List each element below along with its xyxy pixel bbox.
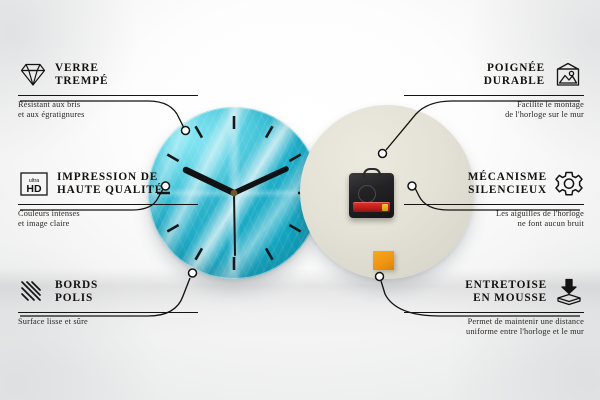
diamond-icon — [18, 62, 48, 88]
feature-title: MÉCANISME SILENCIEUX — [468, 171, 547, 197]
mechanism-dial — [358, 185, 376, 203]
battery — [353, 202, 390, 212]
feature-description: Permet de maintenir une distance uniform… — [404, 317, 584, 338]
clock-mechanism — [349, 173, 394, 218]
feature-rule — [18, 204, 198, 205]
gear-icon — [554, 170, 584, 198]
feature-rule — [18, 95, 198, 96]
feature-title: ENTRETOISE EN MOUSSE — [465, 279, 547, 305]
feature-header: BORDS POLIS — [18, 275, 198, 309]
feature-impression-haute-qualite: ultra HD IMPRESSION DE HAUTE QUALITÉ Cou… — [18, 167, 198, 230]
feature-header: ENTRETOISE EN MOUSSE — [404, 275, 584, 309]
foam-spacer-icon — [554, 278, 584, 306]
feature-header: MÉCANISME SILENCIEUX — [404, 167, 584, 201]
feature-rule — [404, 95, 584, 96]
feature-title: VERRE TREMPÉ — [55, 62, 108, 88]
feature-bords-polis: BORDS POLIS Surface lisse et sûre — [18, 275, 198, 327]
feature-description: Résistant aux bris et aux égratignures — [18, 100, 198, 121]
feature-rule — [404, 312, 584, 313]
wall-frame-icon — [552, 61, 584, 89]
feature-entretoise-en-mousse: ENTRETOISE EN MOUSSE Permet de maintenir… — [404, 275, 584, 338]
feature-mecanisme-silencieux: MÉCANISME SILENCIEUX Les aiguilles de l'… — [404, 167, 584, 230]
feature-description: Couleurs intenses et image claire — [18, 209, 198, 230]
product-infographic: VERRE TREMPÉ Résistant aux bris et aux é… — [0, 0, 600, 400]
foam-spacer — [373, 251, 394, 270]
feature-rule — [404, 204, 584, 205]
hanging-hook — [363, 168, 381, 178]
feature-poignee-durable: POIGNÉE DURABLE Facilite le montage de l… — [404, 58, 584, 121]
svg-text:HD: HD — [26, 183, 42, 195]
feature-header: VERRE TREMPÉ — [18, 58, 198, 92]
feature-title: IMPRESSION DE HAUTE QUALITÉ — [57, 171, 163, 197]
feature-header: ultra HD IMPRESSION DE HAUTE QUALITÉ — [18, 167, 198, 201]
feature-title: POIGNÉE DURABLE — [484, 62, 545, 88]
feature-description: Les aiguilles de l'horloge ne font aucun… — [404, 209, 584, 230]
feature-header: POIGNÉE DURABLE — [404, 58, 584, 92]
ultra-hd-icon: ultra HD — [18, 170, 50, 198]
feature-verre-trempe: VERRE TREMPÉ Résistant aux bris et aux é… — [18, 58, 198, 121]
polished-edges-icon — [18, 279, 48, 305]
feature-description: Facilite le montage de l'horloge sur le … — [404, 100, 584, 121]
feature-title: BORDS POLIS — [55, 279, 98, 305]
feature-rule — [18, 312, 198, 313]
feature-description: Surface lisse et sûre — [18, 317, 198, 328]
